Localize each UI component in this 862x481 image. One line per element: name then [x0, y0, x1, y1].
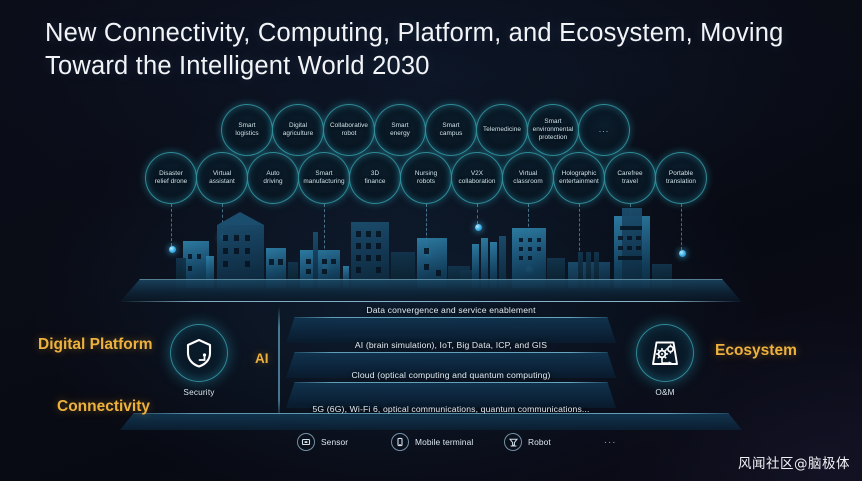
device-label: Sensor: [321, 437, 348, 447]
device-item-sensor[interactable]: Sensor: [297, 433, 348, 451]
connectivity-bar-label: 5G (6G), Wi-Fi 6, optical communications…: [286, 404, 616, 414]
scenario-label: Collaborative robot: [328, 122, 370, 138]
shield-icon: [185, 338, 213, 368]
scenario-label: Carefree travel: [615, 170, 644, 186]
device-item-robot[interactable]: Robot: [504, 433, 551, 451]
scenario-label: Portable translation: [664, 170, 698, 186]
scenario-label: Nursing robots: [413, 170, 439, 186]
sensor-icon: [297, 433, 315, 451]
scenario-label: Auto driving: [261, 170, 284, 186]
scenario-bubble-telemedicine[interactable]: Telemedicine: [476, 104, 528, 156]
robot-icon: [504, 433, 522, 451]
scenario-label: Smart campus: [438, 122, 465, 138]
scenario-bubble-smart-campus[interactable]: Smart campus: [425, 104, 477, 156]
scenario-label: Digital agriculture: [281, 122, 315, 138]
ai-bracket: [278, 307, 280, 419]
scenario-label: Telemedicine: [481, 126, 523, 134]
ai-label: AI: [255, 351, 269, 366]
platform-layer-label: AI (brain simulation), IoT, Big Data, IC…: [286, 340, 616, 350]
building-roof: [217, 212, 264, 225]
scenario-bubble-digital-agriculture[interactable]: Digital agriculture: [272, 104, 324, 156]
scenario-label: Smart energy: [388, 122, 412, 138]
connectivity-base-bar[interactable]: [120, 413, 742, 430]
scenario-bubble-smart-logistics[interactable]: Smart logistics: [221, 104, 273, 156]
watermark: 风闻社区@脑极体: [738, 452, 850, 472]
gears-icon: [650, 339, 680, 368]
scenario-label: Holographic entertainment: [557, 170, 601, 186]
scenario-label: 3D finance: [363, 170, 388, 186]
scenario-bubble-smart-environmental-protection[interactable]: Smart environmental protection: [527, 104, 579, 156]
mobile-terminal-icon: [391, 433, 409, 451]
scenario-label: Disaster relief drone: [153, 170, 190, 186]
device-label: Robot: [528, 437, 551, 447]
slide-canvas: New Connectivity, Computing, Platform, a…: [0, 0, 862, 481]
device-label: Mobile terminal: [415, 437, 473, 447]
device-more-ellipsis[interactable]: ...: [604, 435, 617, 446]
scenario-bubbles: Smart logistics Digital agriculture Coll…: [0, 0, 862, 215]
scenario-label: ...: [597, 126, 612, 134]
om-caption: O&M: [625, 388, 705, 397]
digital-platform-label: Digital Platform: [38, 336, 153, 354]
scenario-label: V2X collaboration: [457, 170, 498, 186]
scenario-bubble-more-top[interactable]: ...: [578, 104, 630, 156]
scenario-label: Smart environmental protection: [531, 118, 576, 141]
security-icon-disc[interactable]: [170, 324, 228, 382]
device-item-mobile-terminal[interactable]: Mobile terminal: [391, 433, 473, 451]
platform-layer-label: Data convergence and service enablement: [286, 305, 616, 315]
platform-layer-label: Cloud (optical computing and quantum com…: [286, 370, 616, 380]
scenario-label: Smart manufacturing: [301, 170, 346, 186]
city-skyline: [0, 196, 862, 288]
scenario-label: Virtual assistant: [207, 170, 237, 186]
scenario-label: Virtual classroom: [511, 170, 545, 186]
ecosystem-label: Ecosystem: [715, 342, 797, 360]
city-platform-plate: [120, 279, 742, 302]
scenario-bubble-smart-energy[interactable]: Smart energy: [374, 104, 426, 156]
om-icon-disc[interactable]: [636, 324, 694, 382]
scenario-bubble-collaborative-robot[interactable]: Collaborative robot: [323, 104, 375, 156]
connectivity-label: Connectivity: [57, 398, 150, 416]
security-caption: Security: [159, 388, 239, 397]
scenario-label: Smart logistics: [233, 122, 260, 138]
